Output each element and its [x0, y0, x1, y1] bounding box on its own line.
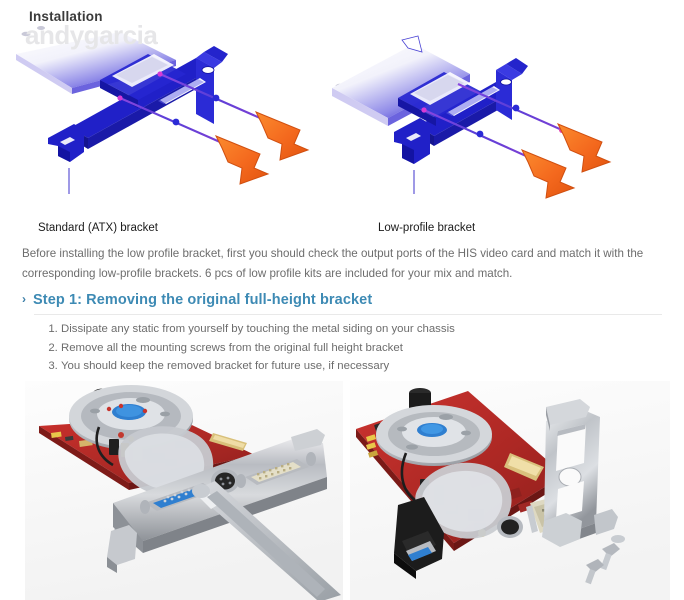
- step-heading-title: Step 1: Removing the original full-heigh…: [33, 292, 372, 308]
- watermark-andygarcia: andygarcia: [25, 20, 157, 51]
- list-item: You should keep the removed bracket for …: [61, 357, 657, 376]
- low-profile-bracket-diagram: [330, 26, 670, 221]
- list-item: Dissipate any static from yourself by to…: [61, 320, 657, 339]
- video-card-with-full-height-bracket-photo: [25, 381, 343, 600]
- step-heading: › Step 1: Removing the original full-hei…: [22, 292, 666, 308]
- intro-paragraph: Before installing the low profile bracke…: [22, 244, 666, 284]
- heatsink-fan: [376, 405, 492, 466]
- s-video-port: [497, 516, 523, 538]
- video-card-with-low-profile-bracket-photo: [350, 381, 670, 600]
- page-title: Installation: [29, 9, 103, 24]
- atx-bracket-diagram: [8, 26, 348, 221]
- photo-band: BAZAR: [0, 381, 684, 600]
- arrow-icon-upper: [256, 112, 308, 160]
- step-instruction-list: Dissipate any static from yourself by to…: [37, 320, 657, 376]
- arrow-icon-upper: [558, 124, 610, 172]
- document-page: andygarcia Installation: [0, 0, 684, 600]
- bracket-diagrams: Standard (ATX) bracket Low-profile brack…: [0, 26, 684, 221]
- figure-caption-right: Low-profile bracket: [378, 222, 475, 234]
- chevron-right-icon: ›: [22, 293, 26, 305]
- list-item: Remove all the mounting screws from the …: [61, 339, 657, 358]
- arrow-icon-lower: [216, 136, 268, 184]
- arrow-icon-lower: [522, 150, 574, 198]
- step-divider: [34, 314, 662, 315]
- figure-caption-left: Standard (ATX) bracket: [38, 222, 158, 234]
